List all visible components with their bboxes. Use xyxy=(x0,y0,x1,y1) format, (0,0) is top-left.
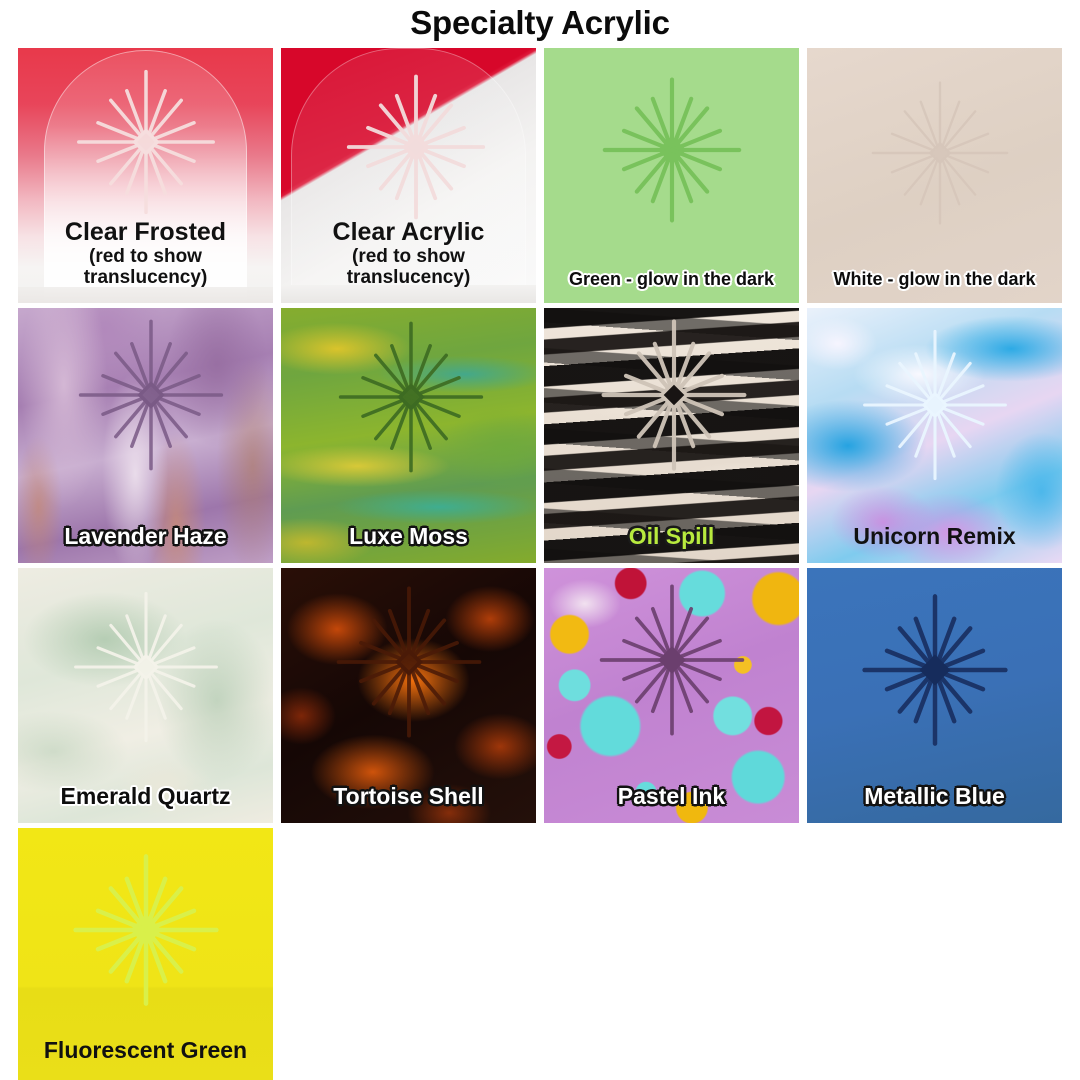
swatch-name: Emerald Quartz xyxy=(61,783,231,809)
swatch-name: White - glow in the dark xyxy=(834,269,1036,289)
swatch-tile-clear-frosted[interactable]: Clear Frosted (red to show translucency) xyxy=(18,48,273,303)
swatch-tile-oil-spill[interactable]: Oil Spill xyxy=(544,308,799,563)
swatch-name: Metallic Blue xyxy=(864,783,1005,809)
swatch-tile-metallic-blue[interactable]: Metallic Blue xyxy=(807,568,1062,823)
swatch-label: White - glow in the dark xyxy=(807,270,1062,289)
page-title: Specialty Acrylic xyxy=(0,2,1080,44)
swatch-tile-unicorn-remix[interactable]: Unicorn Remix xyxy=(807,308,1062,563)
swatch-name: Lavender Haze xyxy=(64,523,226,549)
swatch-label: Green - glow in the dark xyxy=(544,270,799,289)
swatch-label: Unicorn Remix xyxy=(807,524,1062,549)
swatch-tile-emerald-quartz[interactable]: Emerald Quartz xyxy=(18,568,273,823)
swatch-subtitle-line1: (red to show xyxy=(22,247,269,268)
swatch-name: Oil Spill xyxy=(629,523,715,549)
swatch-label: Pastel Ink xyxy=(544,784,799,809)
swatch-name: Pastel Ink xyxy=(618,783,725,809)
swatch-label: Lavender Haze xyxy=(18,524,273,549)
swatch-tile-green-glow-in-the-dark[interactable]: Green - glow in the dark xyxy=(544,48,799,303)
swatch-name: Clear Acrylic xyxy=(285,219,532,246)
swatch-name: Tortoise Shell xyxy=(333,783,483,809)
swatch-name: Unicorn Remix xyxy=(853,523,1015,549)
specialty-acrylic-board: Specialty Acrylic xyxy=(0,0,1080,1080)
swatch-label: Clear Frosted (red to show translucency) xyxy=(18,219,273,289)
swatch-surface xyxy=(807,48,1062,303)
swatch-subtitle-line2: translucency) xyxy=(22,268,269,289)
swatch-tile-white-glow-in-the-dark[interactable]: White - glow in the dark xyxy=(807,48,1062,303)
swatch-name: Fluorescent Green xyxy=(44,1037,247,1063)
swatch-label: Clear Acrylic (red to show translucency) xyxy=(281,219,536,289)
swatch-name: Green - glow in the dark xyxy=(569,269,774,289)
swatch-label: Emerald Quartz xyxy=(18,784,273,809)
swatch-tile-fluorescent-green[interactable]: Fluorescent Green xyxy=(18,828,273,1080)
swatch-name: Clear Frosted xyxy=(22,219,269,246)
swatch-subtitle-line2: translucency) xyxy=(285,268,532,289)
swatch-subtitle-line1: (red to show xyxy=(285,247,532,268)
swatch-tile-luxe-moss[interactable]: Luxe Moss xyxy=(281,308,536,563)
swatch-tile-tortoise-shell[interactable]: Tortoise Shell xyxy=(281,568,536,823)
swatch-surface xyxy=(544,48,799,303)
swatch-label: Luxe Moss xyxy=(281,524,536,549)
swatch-tile-lavender-haze[interactable]: Lavender Haze xyxy=(18,308,273,563)
swatch-tile-clear-acrylic[interactable]: Clear Acrylic (red to show translucency) xyxy=(281,48,536,303)
swatch-label: Metallic Blue xyxy=(807,784,1062,809)
swatch-name: Luxe Moss xyxy=(349,523,468,549)
swatch-label: Tortoise Shell xyxy=(281,784,536,809)
swatch-grid: Clear Frosted (red to show translucency) xyxy=(18,48,1062,1080)
swatch-label: Fluorescent Green xyxy=(18,1038,273,1063)
swatch-label: Oil Spill xyxy=(544,524,799,549)
swatch-tile-pastel-ink[interactable]: Pastel Ink xyxy=(544,568,799,823)
